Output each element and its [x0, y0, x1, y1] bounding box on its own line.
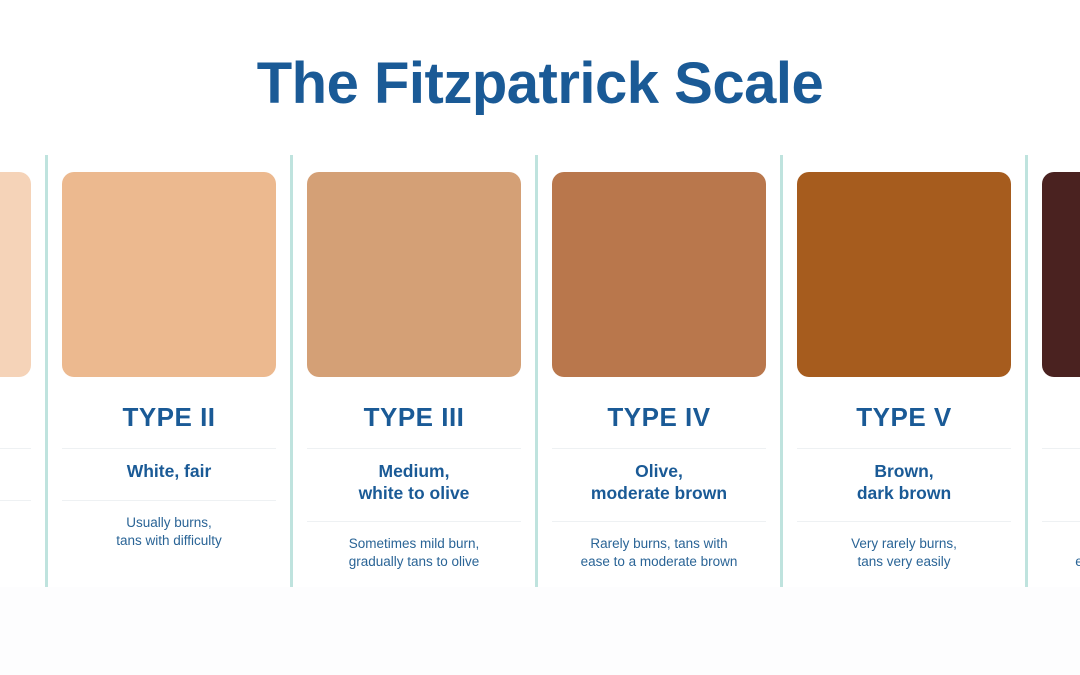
column-divider-rule: [552, 521, 766, 522]
skin-tone-swatch: [552, 172, 766, 377]
column-divider-rule: [1042, 521, 1080, 522]
page-title: The Fitzpatrick Scale: [257, 55, 823, 113]
column-divider-rule: [1042, 448, 1080, 449]
bottom-filler: [0, 587, 1080, 675]
skin-type-column[interactable]: TYPE VBrown, dark brownVery rarely burns…: [783, 155, 1028, 587]
column-divider-rule: [0, 500, 31, 501]
skin-tone-description: Brown, dark brown: [857, 461, 951, 504]
column-divider-rule: [307, 448, 521, 449]
skin-tone-description: Medium, white to olive: [359, 461, 470, 504]
skin-type-column[interactable]: TYPE IIIMedium, white to oliveSometimes …: [293, 155, 538, 587]
skin-tone-swatch: [797, 172, 1011, 377]
sun-reaction-text: Very rarely burns, tans very easily: [851, 535, 957, 571]
skin-type-column[interactable]: TYPE VIBlack, very dark brownNever burns…: [1028, 155, 1080, 587]
skin-tone-swatch: [307, 172, 521, 377]
skin-tone-swatch: [62, 172, 276, 377]
sun-reaction-text: Usually burns, tans with difficulty: [116, 514, 222, 550]
scale-columns-track: TYPE IWhite, very fairAlways burns, neve…: [0, 155, 1080, 587]
column-divider-rule: [0, 448, 31, 449]
column-divider-rule: [62, 500, 276, 501]
column-divider-rule: [552, 448, 766, 449]
skin-tone-description: White, fair: [127, 461, 212, 483]
column-divider-rule: [307, 521, 521, 522]
skin-type-label: TYPE IV: [607, 404, 710, 430]
skin-type-column[interactable]: TYPE IVOlive, moderate brownRarely burns…: [538, 155, 783, 587]
sun-reaction-text: Never burns, tans very easily, deeply pi…: [1075, 535, 1080, 571]
skin-type-column[interactable]: TYPE IWhite, very fairAlways burns, neve…: [0, 155, 48, 587]
column-divider-rule: [62, 448, 276, 449]
column-divider-rule: [797, 521, 1011, 522]
skin-type-label: TYPE III: [364, 404, 465, 430]
skin-tone-swatch: [1042, 172, 1080, 377]
sun-reaction-text: Sometimes mild burn, gradually tans to o…: [349, 535, 480, 571]
skin-tone-description: Olive, moderate brown: [591, 461, 727, 504]
sun-reaction-text: Rarely burns, tans with ease to a modera…: [581, 535, 738, 571]
column-divider-rule: [797, 448, 1011, 449]
skin-type-label: TYPE V: [856, 404, 951, 430]
skin-type-column[interactable]: TYPE IIWhite, fairUsually burns, tans wi…: [48, 155, 293, 587]
fitzpatrick-scale-strip: TYPE IWhite, very fairAlways burns, neve…: [0, 155, 1080, 587]
header: The Fitzpatrick Scale: [0, 0, 1080, 155]
skin-type-label: TYPE II: [122, 404, 215, 430]
skin-tone-swatch: [0, 172, 31, 377]
